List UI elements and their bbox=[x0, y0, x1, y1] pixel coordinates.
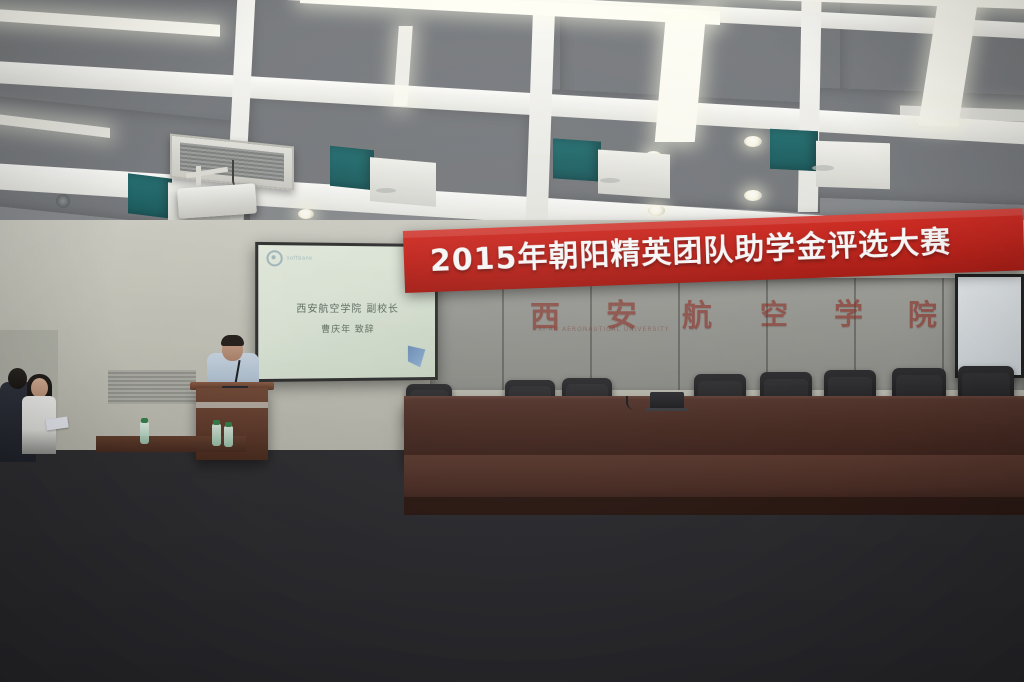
speaker-hair bbox=[221, 335, 244, 346]
standing-person-left-head bbox=[8, 368, 27, 389]
downlight-icon bbox=[744, 190, 762, 201]
downlight-icon bbox=[648, 205, 665, 216]
wall-calligraphy-char: 空 bbox=[760, 293, 788, 333]
ceiling-projector bbox=[177, 183, 257, 218]
podium-stripe bbox=[196, 402, 268, 408]
wall-vent-grille bbox=[108, 370, 196, 404]
wall-english-name: XI'AN AERONAUTICAL UNIVERSITY bbox=[538, 326, 669, 333]
wall-calligraphy-char: 院 bbox=[908, 292, 937, 334]
logo-ring-icon bbox=[266, 250, 282, 266]
wall-calligraphy-char: 学 bbox=[834, 291, 863, 333]
slide-line-2: 曹庆年 致辞 bbox=[258, 322, 435, 336]
wall-calligraphy-char: 航 bbox=[682, 291, 712, 335]
slide-logo-text: softbank bbox=[287, 255, 313, 261]
photo-scene: 西 安 航 空 学 院 XI'AN AERONAUTICAL UNIVERSIT… bbox=[0, 0, 1024, 682]
downlight-icon bbox=[744, 136, 762, 147]
desk-microphone bbox=[626, 396, 642, 410]
slide-line-1: 西安航空学院 副校长 bbox=[258, 300, 435, 315]
ceiling bbox=[0, 0, 1024, 245]
audience-seating-area: 曹庆年 贾从华 刘春霞 王建 bbox=[0, 420, 1024, 682]
slide-corner-graphic bbox=[408, 346, 425, 368]
woman-presenter-head bbox=[31, 378, 48, 398]
slide-logo: softbank bbox=[266, 250, 312, 267]
downlight-icon bbox=[298, 209, 314, 219]
secondary-display bbox=[955, 274, 1024, 378]
laptop-base bbox=[646, 408, 688, 411]
macbook-laptop bbox=[650, 392, 684, 409]
